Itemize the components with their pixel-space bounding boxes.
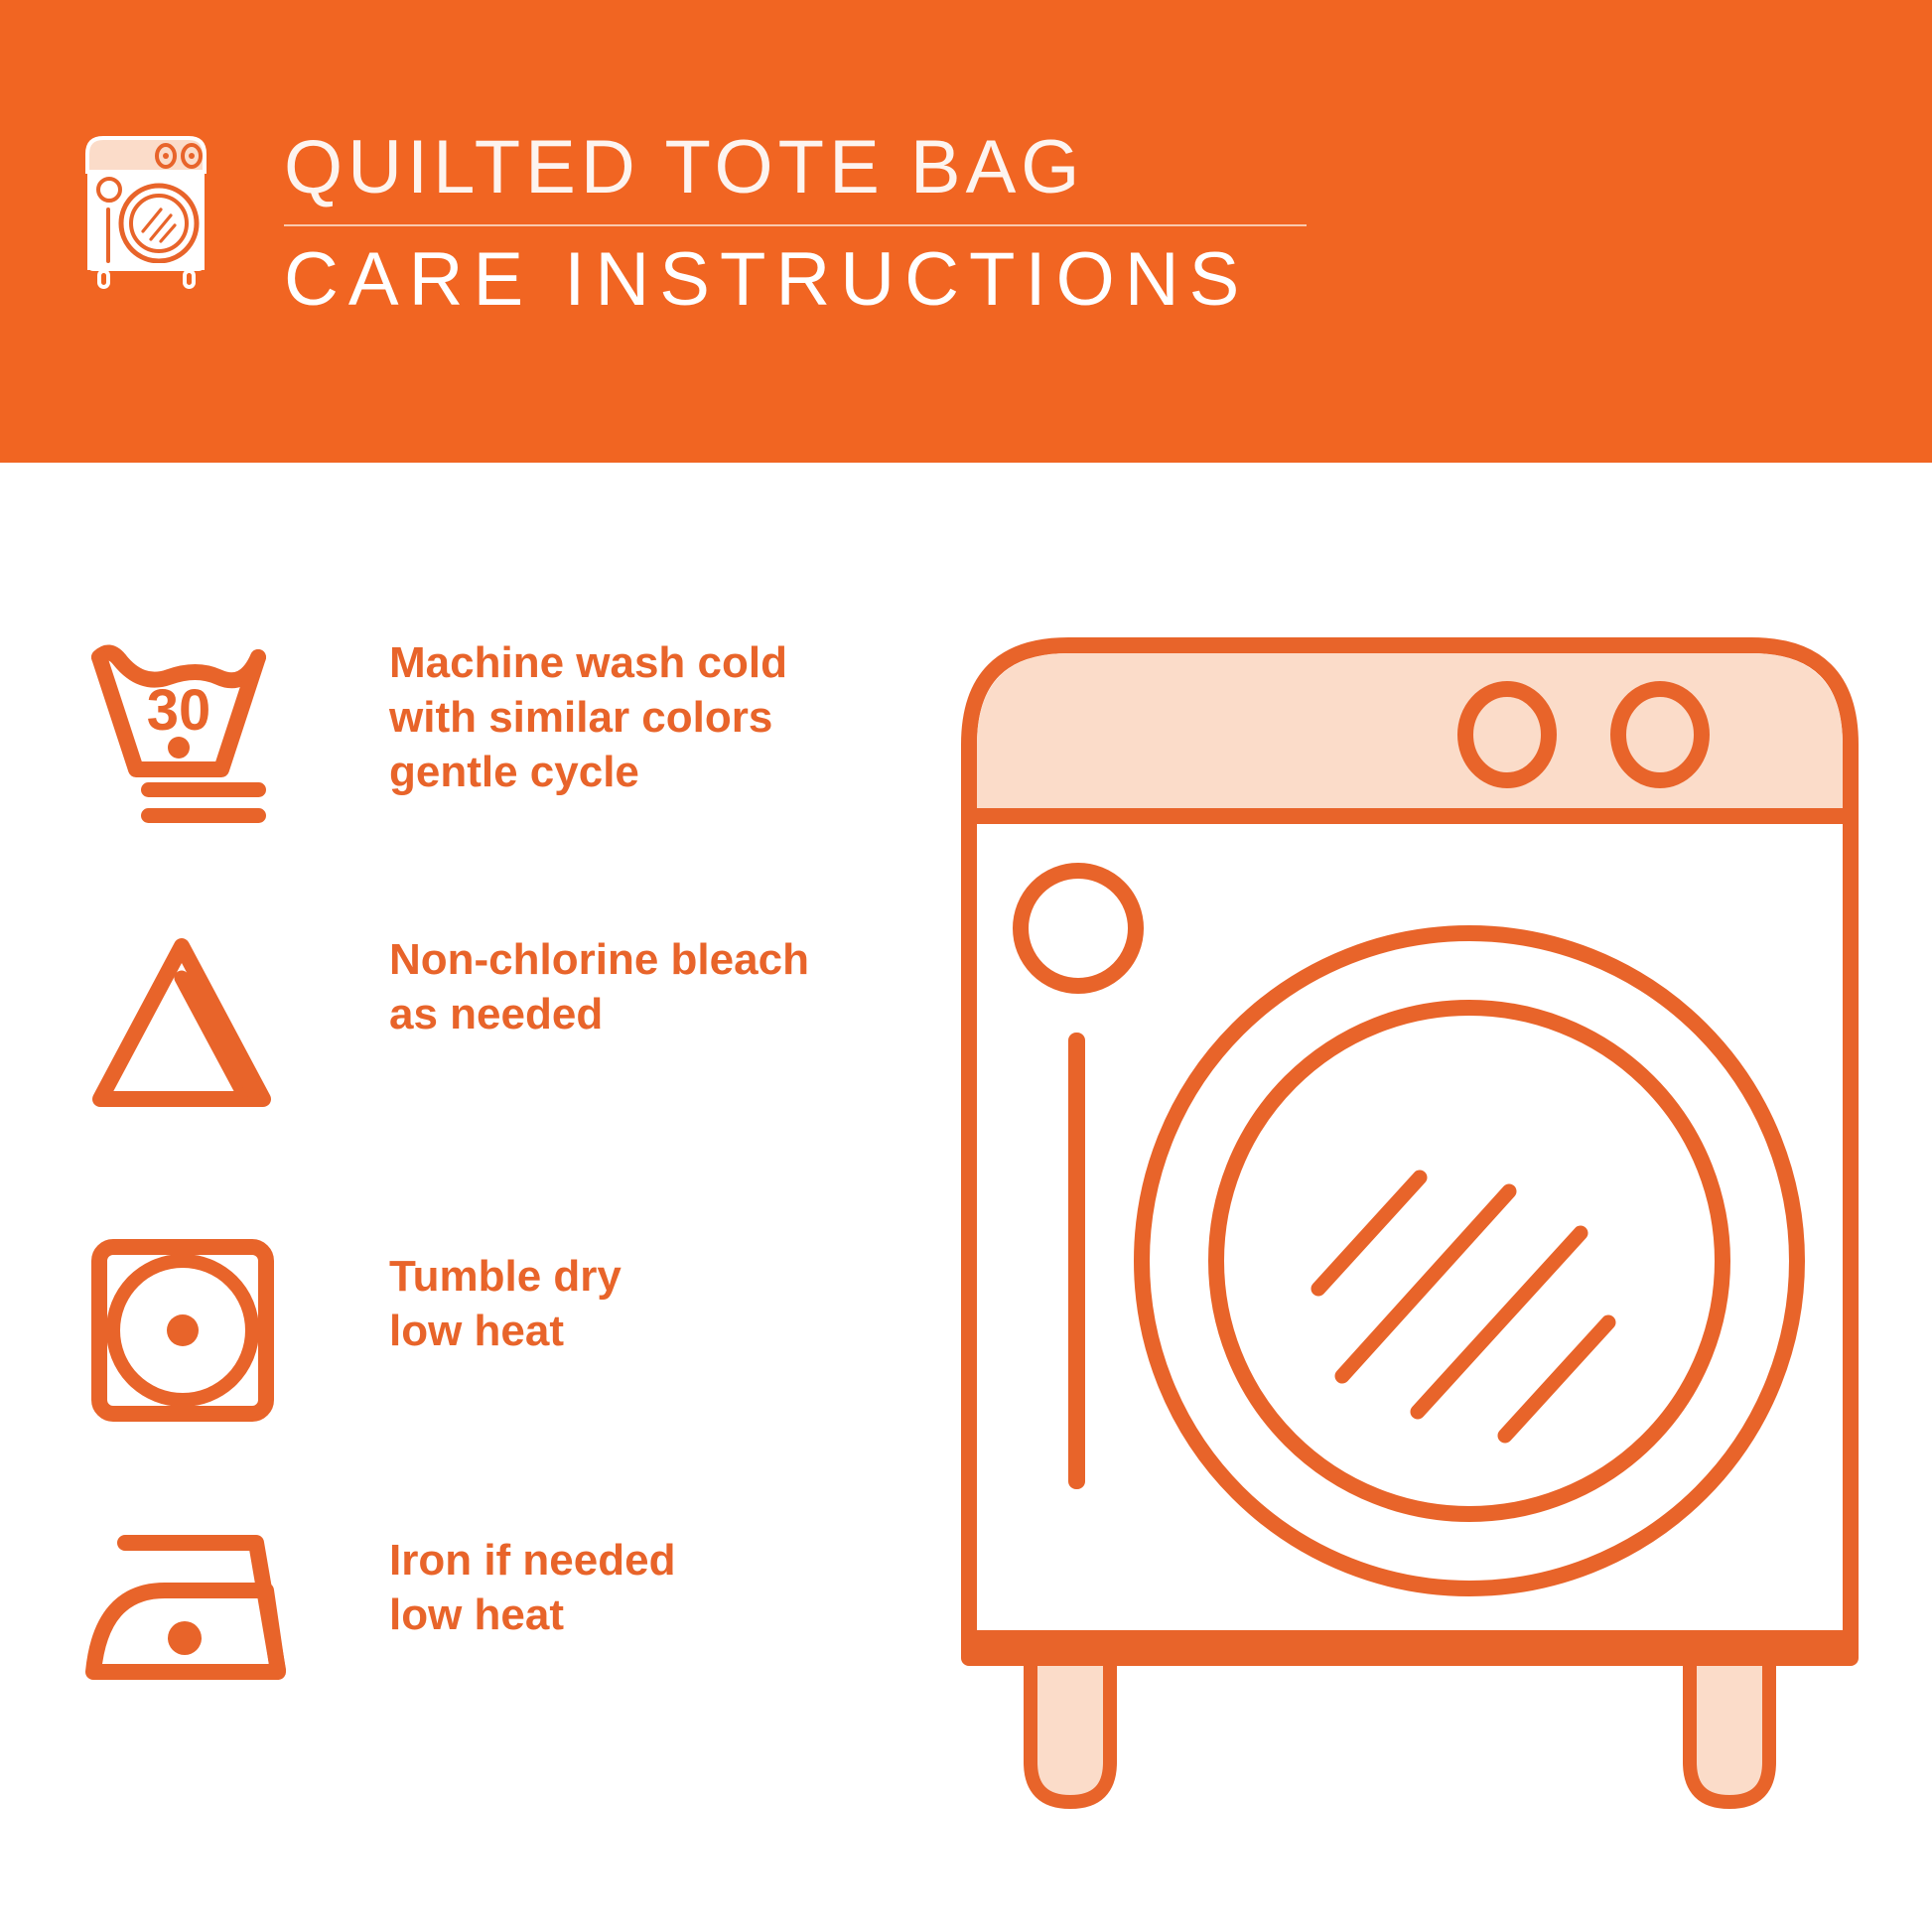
- wash-tub-30-gentle-icon: 30: [79, 635, 298, 834]
- header-banner: QUILTED TOTE BAG CARE INSTRUCTIONS: [0, 0, 1932, 463]
- care-label-line2: low heat: [389, 1304, 905, 1358]
- wash-temperature-value: 30: [147, 678, 211, 743]
- bleach-triangle-non-chlorine-icon: [79, 928, 298, 1127]
- page-title: QUILTED TOTE BAG: [284, 125, 1326, 210]
- washing-machine-illustration: [953, 625, 1866, 1896]
- machine-knob-left: [1465, 689, 1549, 780]
- care-label-line2: with similar colors: [389, 690, 905, 745]
- care-label-line3: gentle cycle: [389, 745, 905, 799]
- machine-leg-right: [1690, 1658, 1769, 1802]
- tumble-dry-low-heat-icon: [79, 1231, 298, 1430]
- care-label-line2: low heat: [389, 1587, 905, 1642]
- care-label-bleach: Non-chlorine bleach as needed: [389, 932, 905, 1041]
- title-divider: [284, 224, 1307, 226]
- care-row-bleach: Non-chlorine bleach as needed: [0, 918, 913, 1147]
- care-label-iron: Iron if needed low heat: [389, 1533, 905, 1642]
- care-label-machine-wash: Machine wash cold with similar colors ge…: [389, 635, 905, 799]
- page-subtitle: CARE INSTRUCTIONS: [284, 236, 1326, 324]
- machine-leg-left: [1031, 1658, 1110, 1802]
- care-row-machine-wash: 30 Machine wash cold with similar colors…: [0, 635, 913, 864]
- header-title-block: QUILTED TOTE BAG CARE INSTRUCTIONS: [284, 125, 1326, 324]
- machine-knob-right: [1618, 689, 1702, 780]
- care-label-tumble-dry: Tumble dry low heat: [389, 1249, 905, 1358]
- machine-base: [969, 1630, 1851, 1658]
- care-row-tumble-dry: Tumble dry low heat: [0, 1231, 913, 1459]
- iron-low-heat-icon: [79, 1521, 298, 1720]
- care-label-line2: as needed: [389, 987, 905, 1041]
- washing-machine-icon: [77, 132, 216, 291]
- care-label-line1: Non-chlorine bleach: [389, 932, 905, 987]
- care-row-iron: Iron if needed low heat: [0, 1509, 913, 1737]
- machine-control-panel: [977, 653, 1843, 816]
- care-label-line1: Iron if needed: [389, 1533, 905, 1587]
- care-label-line1: Machine wash cold: [389, 635, 905, 690]
- care-instructions-page: QUILTED TOTE BAG CARE INSTRUCTIONS 30: [0, 0, 1932, 1932]
- care-label-line1: Tumble dry: [389, 1249, 905, 1304]
- machine-side-bar: [1068, 1033, 1085, 1489]
